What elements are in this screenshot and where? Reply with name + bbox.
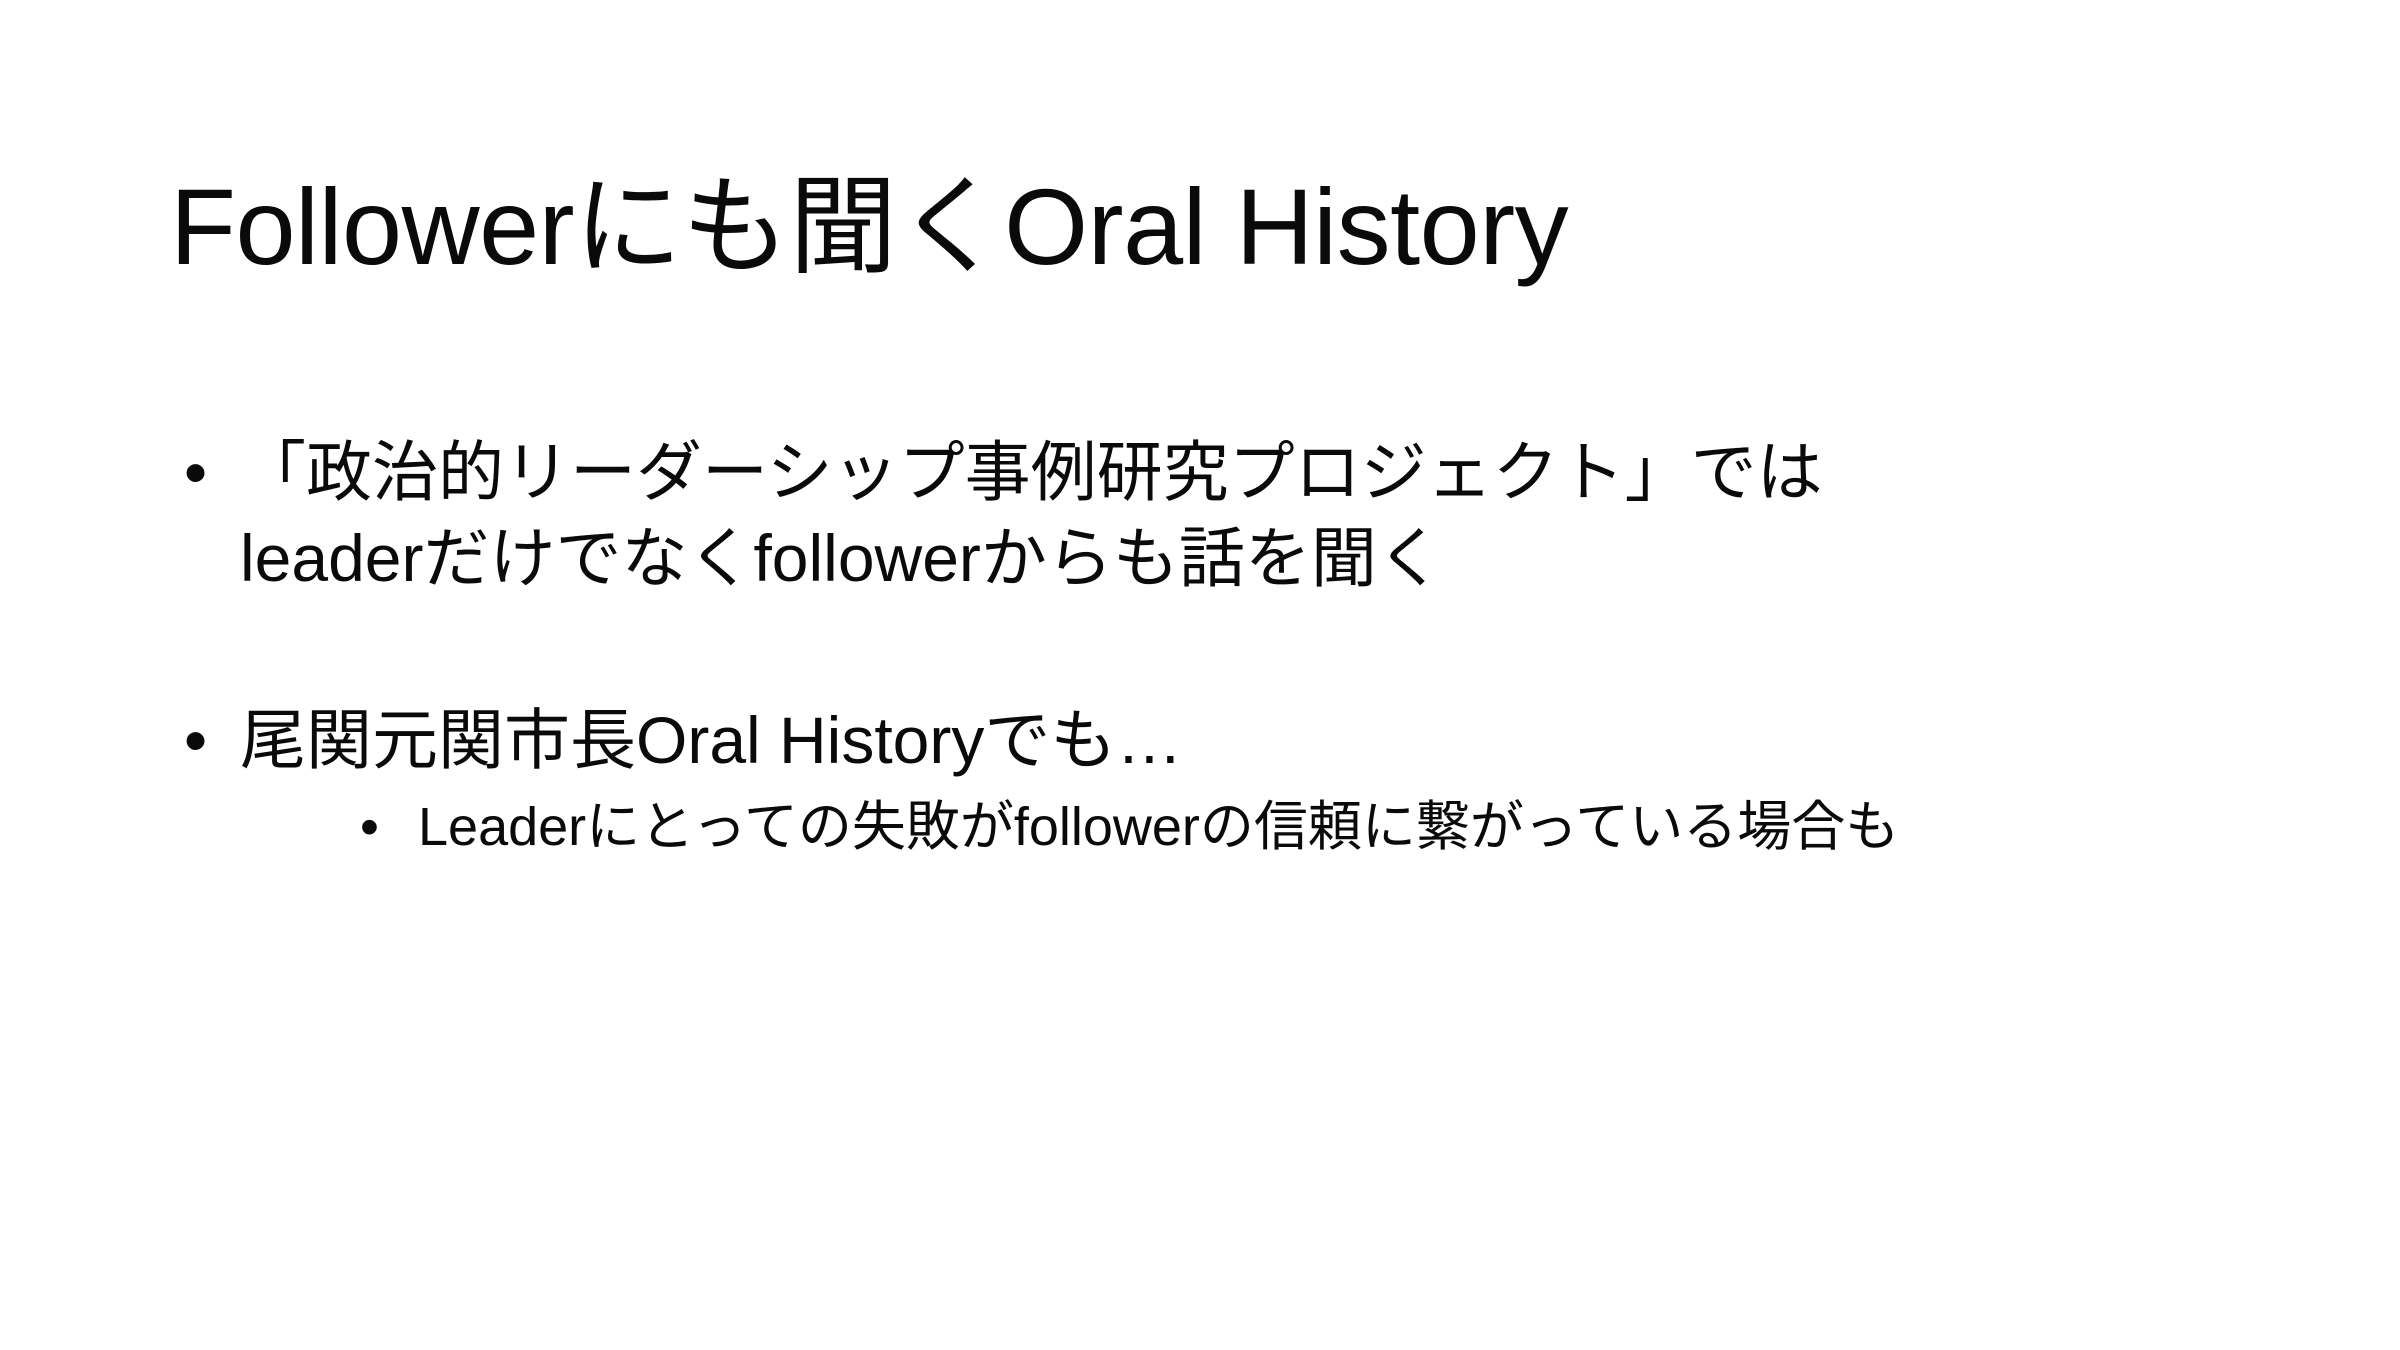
list-item-line: leaderだけでなくfollowerからも話を聞く [240,516,2270,602]
bullet-marker-icon: • [360,793,379,862]
list-item-line: 尾関元関市長Oral Historyでも… [240,698,2270,784]
bullet-marker-icon: • [184,430,207,516]
list-item: • 尾関元関市長Oral Historyでも… • Leaderにとっての失敗が… [170,698,2270,863]
bullet-list-level2: • Leaderにとっての失敗がfollowerの信頼に繋がっている場合も [240,793,2270,862]
list-item-line: 「政治的リーダーシップ事例研究プロジェクト」では [240,430,2270,516]
list-item: • 「政治的リーダーシップ事例研究プロジェクト」では leaderだけでなくfo… [170,430,2270,602]
bullet-list-level1: • 「政治的リーダーシップ事例研究プロジェクト」では leaderだけでなくfo… [170,430,2270,863]
bullet-marker-icon: • [184,698,207,784]
list-item: • Leaderにとっての失敗がfollowerの信頼に繋がっている場合も [352,793,2270,862]
list-item-line: Leaderにとっての失敗がfollowerの信頼に繋がっている場合も [418,793,2270,862]
slide-body: • 「政治的リーダーシップ事例研究プロジェクト」では leaderだけでなくfo… [170,430,2270,863]
slide-canvas: Followerにも聞くOral History • 「政治的リーダーシップ事例… [0,0,2400,1350]
list-spacer [170,602,2270,698]
page-title: Followerにも聞くOral History [170,167,2250,288]
